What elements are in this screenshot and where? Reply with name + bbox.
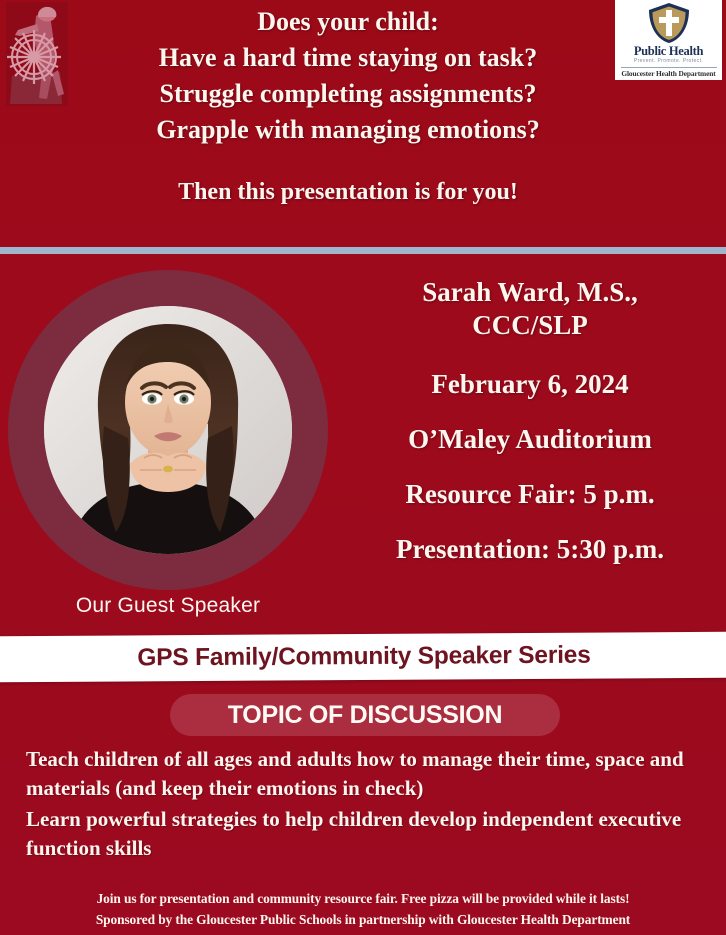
details-gap-4 [340, 511, 720, 533]
resource-fair-time: Resource Fair: 5 p.m. [340, 478, 720, 511]
section-divider [0, 247, 726, 254]
footer-line-2: Sponsored by the Gloucester Public Schoo… [0, 909, 726, 930]
details-gap-3 [340, 456, 720, 478]
public-health-shield-cross-icon [647, 2, 691, 44]
headline-call-to-action: Then this presentation is for you! [78, 174, 618, 210]
details-gap-2 [340, 401, 720, 423]
flyer-header: Public Health Prevent. Promote. Protect.… [0, 0, 726, 248]
flyer-footer: Join us for presentation and community r… [0, 888, 726, 930]
speaker-series-banner: GPS Family/Community Speaker Series [0, 632, 726, 683]
fisherman-at-the-wheel-statue-icon [6, 2, 68, 106]
public-health-logo: Public Health Prevent. Promote. Protect.… [615, 0, 722, 80]
headline-line-2: Have a hard time staying on task? [78, 40, 618, 76]
speaker-section: Our Guest Speaker Sarah Ward, M.S., CCC/… [0, 254, 726, 634]
speaker-photo-ring [8, 270, 328, 590]
footer-line-1: Join us for presentation and community r… [0, 888, 726, 909]
headline-block: Does your child: Have a hard time stayin… [78, 4, 618, 210]
topic-of-discussion-label: TOPIC OF DISCUSSION [170, 694, 560, 736]
event-date: February 6, 2024 [340, 368, 720, 401]
topic-body-copy: Teach children of all ages and adults ho… [26, 745, 702, 863]
topic-paragraph-1: Teach children of all ages and adults ho… [26, 745, 702, 803]
event-venue: O’Maley Auditorium [340, 423, 720, 456]
speaker-name-line-2: CCC/SLP [340, 309, 720, 342]
headline-line-4: Grapple with managing emotions? [78, 112, 618, 148]
logo-divider [621, 67, 717, 68]
logo-title: Public Health [615, 45, 722, 58]
speaker-caption: Our Guest Speaker [8, 594, 328, 618]
details-gap-1 [340, 342, 720, 368]
topic-of-discussion-pill: TOPIC OF DISCUSSION [170, 694, 560, 736]
presentation-time: Presentation: 5:30 p.m. [340, 533, 720, 566]
speaker-photo [44, 306, 292, 554]
event-flyer: Public Health Prevent. Promote. Protect.… [0, 0, 726, 935]
headline-line-3: Struggle completing assignments? [78, 76, 618, 112]
headline-line-1: Does your child: [78, 4, 618, 40]
headline-spacer [78, 148, 618, 174]
speaker-name-line-1: Sarah Ward, M.S., [340, 276, 720, 309]
event-details: Sarah Ward, M.S., CCC/SLP February 6, 20… [340, 276, 720, 566]
speaker-series-title: GPS Family/Community Speaker Series [0, 632, 726, 683]
logo-tagline: Prevent. Promote. Protect. [615, 58, 722, 65]
logo-department: Gloucester Health Department [615, 69, 722, 78]
topic-paragraph-2: Learn powerful strategies to help childr… [26, 805, 702, 863]
